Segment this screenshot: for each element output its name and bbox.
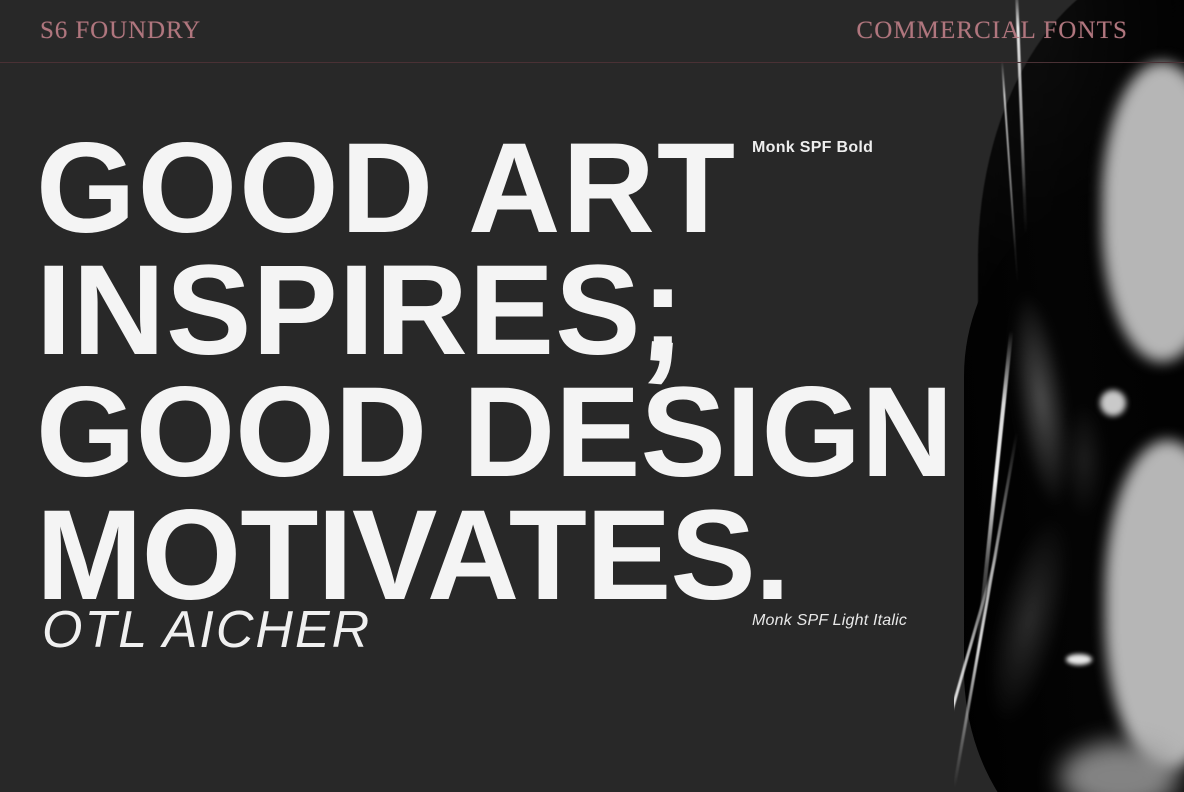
headline-line-4: MOTIVATES. <box>36 495 953 617</box>
headline-style-label: Monk SPF Bold <box>752 139 873 157</box>
attribution-style-label: Monk SPF Light Italic <box>752 612 907 630</box>
artwork-highlight-dot <box>1100 390 1126 416</box>
glossy-black-artwork <box>954 0 1184 792</box>
artwork-highlight-sliver <box>1066 654 1092 665</box>
quote-attribution: OTL AICHER <box>42 600 371 660</box>
header-tagline: COMMERCIAL FONTS <box>856 17 1128 45</box>
headline-line-2: INSPIRES: <box>36 250 953 372</box>
font-specimen-poster: S6 FOUNDRY COMMERCIAL FONTS GOOD ART INS… <box>0 0 1184 792</box>
foundry-brand-name: S6 FOUNDRY <box>40 17 201 45</box>
headline-specimen-text: GOOD ART INSPIRES: GOOD DESIGN MOTIVATES… <box>36 128 953 617</box>
headline-line-3: GOOD DESIGN <box>36 372 953 494</box>
